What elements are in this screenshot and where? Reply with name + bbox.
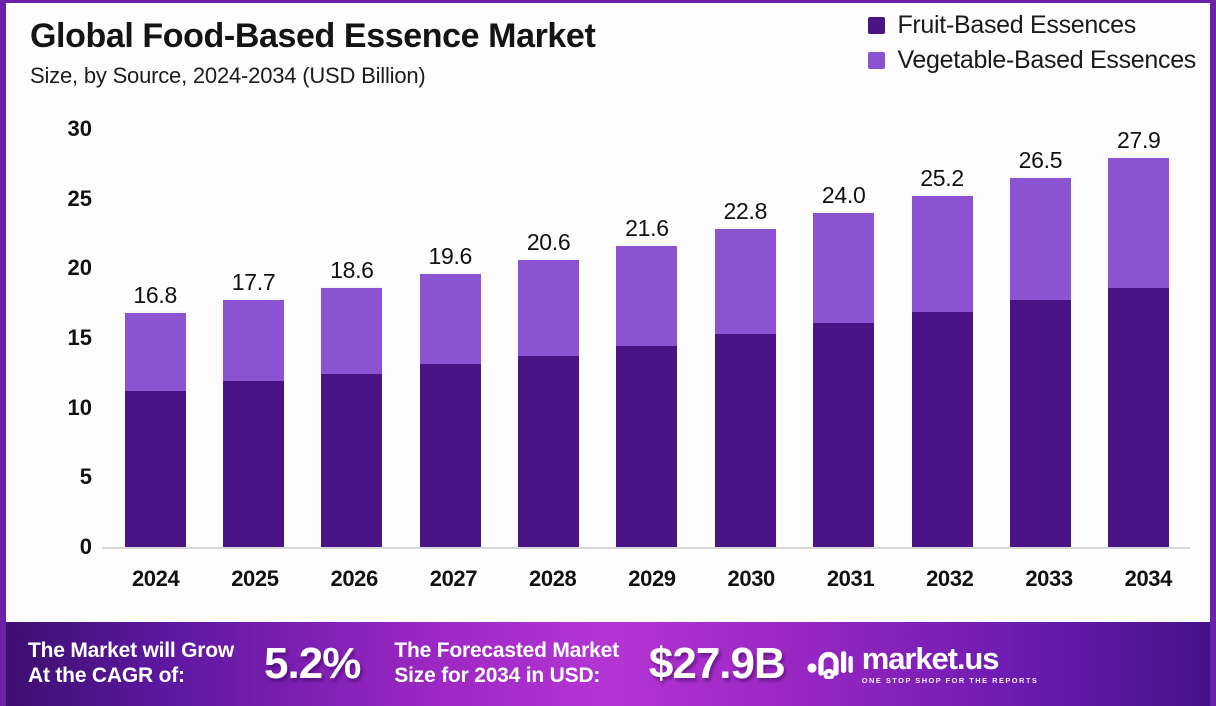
x-axis-tick: 2025: [205, 566, 304, 592]
bar-stack[interactable]: [813, 213, 874, 547]
y-axis: 051015202530: [32, 115, 92, 564]
bar-column[interactable]: 20.6: [499, 115, 597, 549]
bar-stack[interactable]: [223, 300, 284, 547]
bar-segment-vegetable[interactable]: [223, 300, 284, 381]
cagr-caption: The Market will Grow At the CAGR of:: [28, 639, 234, 689]
bar-column[interactable]: 16.8: [106, 115, 204, 549]
bar-column[interactable]: 26.5: [991, 115, 1089, 549]
bar-segment-fruit[interactable]: [420, 364, 481, 547]
x-axis-tick: 2033: [999, 566, 1098, 592]
x-axis-tick: 2028: [503, 566, 602, 592]
forecast-caption-line2: Size for 2034 in USD:: [394, 664, 600, 687]
x-axis-tick: 2024: [106, 566, 205, 592]
forecast-caption-line1: The Forecasted Market: [394, 639, 619, 662]
bar-segment-fruit[interactable]: [321, 374, 382, 547]
bar-stack[interactable]: [912, 196, 973, 547]
bar-stack[interactable]: [420, 274, 481, 547]
y-axis-tick: 5: [80, 464, 92, 490]
bar-segment-fruit[interactable]: [715, 334, 776, 547]
bar-value-label: 27.9: [1117, 127, 1161, 154]
x-axis-tick: 2027: [404, 566, 503, 592]
bar-segment-vegetable[interactable]: [321, 288, 382, 374]
bar-segment-vegetable[interactable]: [616, 246, 677, 346]
bar-segment-fruit[interactable]: [125, 391, 186, 547]
cagr-caption-line2: At the CAGR of:: [28, 664, 185, 687]
bar-segment-fruit[interactable]: [813, 323, 874, 547]
bar-segment-fruit[interactable]: [1010, 300, 1071, 547]
x-axis-tick: 2034: [1099, 566, 1198, 592]
bar-column[interactable]: 22.8: [696, 115, 794, 549]
bar-value-label: 20.6: [527, 229, 571, 256]
bar-stack[interactable]: [321, 288, 382, 547]
bar-segment-vegetable[interactable]: [1108, 158, 1169, 288]
x-axis-tick: 2031: [801, 566, 900, 592]
bar-stack[interactable]: [1010, 178, 1071, 547]
cagr-value: 5.2%: [264, 639, 360, 689]
market-us-logo[interactable]: market.us ONE STOP SHOP FOR THE REPORTS: [807, 643, 1039, 684]
bar-value-label: 24.0: [822, 182, 866, 209]
bar-value-label: 19.6: [428, 243, 472, 270]
bar-value-label: 25.2: [920, 165, 964, 192]
y-axis-tick: 20: [68, 255, 92, 281]
bar-segment-vegetable[interactable]: [1010, 178, 1071, 301]
legend-swatch-icon: [868, 17, 885, 34]
bar-stack[interactable]: [616, 246, 677, 547]
x-axis: 2024202520262027202820292030203120322033…: [106, 566, 1198, 592]
legend-item-label: Vegetable-Based Essences: [897, 46, 1196, 75]
logo-name: market.us: [862, 643, 1039, 674]
chart-legend: Fruit-Based EssencesVegetable-Based Esse…: [868, 11, 1196, 75]
cagr-caption-line1: The Market will Grow: [28, 639, 234, 662]
x-axis-tick: 2032: [900, 566, 999, 592]
bar-segment-fruit[interactable]: [518, 356, 579, 547]
legend-item[interactable]: Fruit-Based Essences: [868, 11, 1196, 40]
y-axis-tick: 10: [68, 395, 92, 421]
bar-segment-fruit[interactable]: [223, 381, 284, 547]
bar-segment-fruit[interactable]: [616, 346, 677, 547]
bar-stack[interactable]: [518, 260, 579, 547]
bar-segment-vegetable[interactable]: [813, 213, 874, 323]
bar-column[interactable]: 24.0: [795, 115, 893, 549]
bar-segment-vegetable[interactable]: [912, 196, 973, 312]
bar-value-label: 17.7: [232, 269, 276, 296]
bar-column[interactable]: 19.6: [401, 115, 499, 549]
y-axis-tick: 25: [68, 186, 92, 212]
bar-stack[interactable]: [125, 313, 186, 547]
bar-group: 16.817.718.619.620.621.622.824.025.226.5…: [106, 115, 1188, 549]
bar-segment-fruit[interactable]: [1108, 288, 1169, 547]
logo-tagline: ONE STOP SHOP FOR THE REPORTS: [862, 677, 1039, 684]
x-axis-band: 2024202520262027202820292030203120322033…: [6, 564, 1210, 622]
logo-text: market.us ONE STOP SHOP FOR THE REPORTS: [862, 643, 1039, 684]
bar-value-label: 18.6: [330, 257, 374, 284]
legend-item[interactable]: Vegetable-Based Essences: [868, 46, 1196, 75]
plot-area: 051015202530 16.817.718.619.620.621.622.…: [6, 115, 1200, 564]
forecast-value: $27.9B: [649, 639, 785, 689]
bar-stack[interactable]: [715, 229, 776, 547]
y-axis-tick: 30: [68, 116, 92, 142]
legend-swatch-icon: [868, 52, 885, 69]
chart-header: Global Food-Based Essence Market Size, b…: [6, 3, 1210, 115]
legend-item-label: Fruit-Based Essences: [897, 11, 1136, 40]
x-axis-tick: 2030: [702, 566, 801, 592]
bar-value-label: 21.6: [625, 215, 669, 242]
bar-value-label: 22.8: [724, 198, 768, 225]
bar-column[interactable]: 18.6: [303, 115, 401, 549]
bar-value-label: 16.8: [133, 282, 177, 309]
y-axis-tick: 0: [80, 534, 92, 560]
y-axis-tick: 15: [68, 325, 92, 351]
infographic-root: Global Food-Based Essence Market Size, b…: [0, 0, 1216, 706]
bar-column[interactable]: 27.9: [1090, 115, 1188, 549]
market-us-logo-icon: [807, 645, 853, 684]
x-axis-tick: 2029: [602, 566, 701, 592]
bar-column[interactable]: 21.6: [598, 115, 696, 549]
bar-segment-vegetable[interactable]: [125, 313, 186, 391]
forecast-caption: The Forecasted Market Size for 2034 in U…: [394, 639, 619, 689]
x-axis-tick: 2026: [305, 566, 404, 592]
bar-value-label: 26.5: [1019, 147, 1063, 174]
bar-segment-fruit[interactable]: [912, 312, 973, 547]
bar-column[interactable]: 17.7: [204, 115, 302, 549]
footer-banner: The Market will Grow At the CAGR of: 5.2…: [6, 622, 1210, 706]
bar-segment-vegetable[interactable]: [715, 229, 776, 334]
bar-segment-vegetable[interactable]: [518, 260, 579, 356]
bar-column[interactable]: 25.2: [893, 115, 991, 549]
bar-stack[interactable]: [1108, 158, 1169, 547]
bar-segment-vegetable[interactable]: [420, 274, 481, 365]
